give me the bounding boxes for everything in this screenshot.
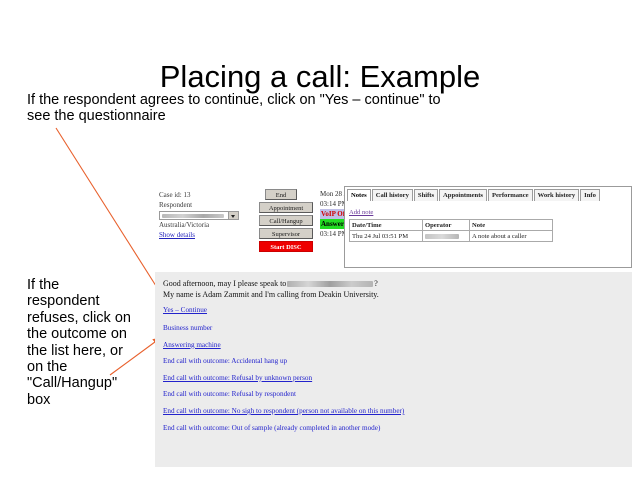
callout-text-left: If the respondent refuses, click on the … bbox=[27, 277, 131, 408]
column-header-note: Note bbox=[470, 220, 553, 231]
notes-panel: Notes Call history Shifts Appointments P… bbox=[344, 186, 632, 268]
call-hangup-button[interactable]: Call/Hangup bbox=[259, 215, 313, 226]
outcome-link-business-number[interactable]: Business number bbox=[163, 324, 623, 332]
outcome-link-refusal-unknown-person[interactable]: End call with outcome: Refusal by unknow… bbox=[163, 374, 623, 382]
table-header-row: Date/Time Operator Note bbox=[350, 220, 553, 231]
script-line-2: My name is Adam Zammit and I'm calling f… bbox=[163, 289, 379, 300]
respondent-select[interactable] bbox=[159, 211, 239, 220]
timezone-label: Australia/Victoria bbox=[159, 220, 247, 230]
end-button[interactable]: End bbox=[265, 189, 297, 200]
script-line-1: Good afternoon, may I please speak to? bbox=[163, 278, 379, 289]
app-header-region: Case id: 13 Respondent Australia/Victori… bbox=[155, 186, 632, 271]
table-row[interactable]: Thu 24 Jul 03:51 PM A note about a calle… bbox=[350, 231, 553, 242]
outcome-link-out-of-sample[interactable]: End call with outcome: Out of sample (al… bbox=[163, 424, 623, 432]
script-line-1-after: ? bbox=[374, 279, 378, 288]
notes-table: Date/Time Operator Note Thu 24 Jul 03:51… bbox=[349, 219, 553, 242]
page-title: Placing a call: Example bbox=[0, 59, 640, 95]
call-control-buttons: End Appointment Call/Hangup Supervisor S… bbox=[259, 189, 315, 254]
outcome-link-answering-machine[interactable]: Answering machine bbox=[163, 341, 623, 349]
column-header-operator: Operator bbox=[423, 220, 470, 231]
respondent-name-redacted bbox=[287, 281, 373, 287]
app-script-region: Good afternoon, may I please speak to? M… bbox=[155, 272, 632, 467]
notes-panel-tabs: Notes Call history Shifts Appointments P… bbox=[347, 189, 631, 201]
cell-datetime: Thu 24 Jul 03:51 PM bbox=[350, 231, 423, 242]
tab-shifts[interactable]: Shifts bbox=[414, 189, 438, 201]
start-disc-button[interactable]: Start DISC bbox=[259, 241, 313, 252]
appointment-button[interactable]: Appointment bbox=[259, 202, 313, 213]
respondent-redacted-value bbox=[162, 214, 224, 218]
case-id-label: Case id: 13 bbox=[159, 190, 247, 200]
tab-appointments[interactable]: Appointments bbox=[439, 189, 487, 201]
outcome-link-refusal-by-respondent[interactable]: End call with outcome: Refusal by respon… bbox=[163, 390, 623, 398]
chevron-down-icon[interactable] bbox=[228, 212, 238, 219]
tab-performance[interactable]: Performance bbox=[488, 189, 533, 201]
case-info-block: Case id: 13 Respondent Australia/Victori… bbox=[159, 190, 247, 240]
tab-notes[interactable]: Notes bbox=[347, 189, 371, 201]
embedded-app-screenshot: Case id: 13 Respondent Australia/Victori… bbox=[155, 186, 632, 467]
show-details-link[interactable]: Show details bbox=[159, 231, 195, 239]
callout-text-top: If the respondent agrees to continue, cl… bbox=[27, 92, 457, 124]
call-script-text: Good afternoon, may I please speak to? M… bbox=[163, 278, 379, 300]
slide-canvas: Placing a call: Example If the responden… bbox=[0, 0, 640, 480]
cell-note: A note about a caller bbox=[470, 231, 553, 242]
tab-work-history[interactable]: Work history bbox=[534, 189, 580, 201]
script-line-1-before: Good afternoon, may I please speak to bbox=[163, 279, 286, 288]
tab-call-history[interactable]: Call history bbox=[372, 189, 413, 201]
add-note-link[interactable]: Add note bbox=[349, 209, 373, 216]
arrow-to-script bbox=[56, 128, 163, 297]
outcome-link-accidental-hang-up[interactable]: End call with outcome: Accidental hang u… bbox=[163, 357, 623, 365]
outcome-link-list: Yes – Continue Business number Answering… bbox=[163, 306, 623, 440]
respondent-label: Respondent bbox=[159, 200, 247, 210]
cell-operator bbox=[423, 231, 470, 242]
operator-redacted-value bbox=[425, 234, 459, 239]
outcome-link-no-sigh-respondent[interactable]: End call with outcome: No sigh to respon… bbox=[163, 407, 623, 415]
column-header-datetime: Date/Time bbox=[350, 220, 423, 231]
supervisor-button[interactable]: Supervisor bbox=[259, 228, 313, 239]
outcome-link-yes-continue[interactable]: Yes – Continue bbox=[163, 306, 623, 314]
tab-info[interactable]: Info bbox=[580, 189, 600, 201]
